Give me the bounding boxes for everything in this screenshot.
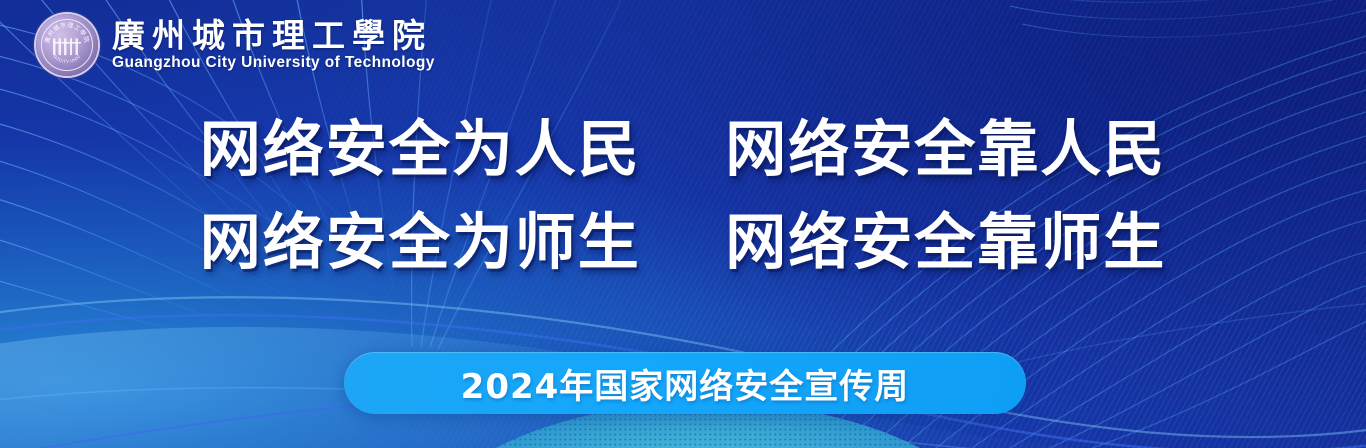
- university-name-en: Guangzhou City University of Technology: [112, 55, 435, 71]
- university-name-cn: 廣州城市理工學院: [112, 19, 435, 54]
- university-crest-icon: 廣州城市理工學院 GZCITY UNIV: [36, 14, 98, 76]
- university-name-block: 廣州城市理工學院 Guangzhou City University of Te…: [112, 19, 435, 70]
- banner-content: 廣州城市理工學院 GZCITY UNIV 廣州城市理工學院 Guangzhou …: [0, 0, 1366, 448]
- svg-text:GZCITY UNIV: GZCITY UNIV: [52, 54, 81, 64]
- headline-line-1-part-1: 网络安全为人民: [200, 114, 641, 185]
- campaign-pill-badge: 2024年国家网络安全宣传周: [344, 352, 1026, 414]
- headline-line-2-part-1: 网络安全为师生: [200, 207, 641, 278]
- headline-line-2-part-2: 网络安全靠师生: [725, 207, 1166, 278]
- headline-line-1: 网络安全为人民 网络安全靠人民: [0, 104, 1366, 197]
- crest-inner-text-ring: 廣州城市理工學院 GZCITY UNIV: [36, 14, 98, 76]
- university-logo-block: 廣州城市理工學院 GZCITY UNIV 廣州城市理工學院 Guangzhou …: [36, 14, 435, 76]
- svg-text:廣州城市理工學院: 廣州城市理工學院: [43, 21, 91, 44]
- cybersecurity-awareness-banner: 廣州城市理工學院 GZCITY UNIV 廣州城市理工學院 Guangzhou …: [0, 0, 1366, 448]
- headline-slogan: 网络安全为人民 网络安全靠人民 网络安全为师生 网络安全靠师生: [0, 104, 1366, 289]
- campaign-pill-label: 2024年国家网络安全宣传周: [461, 359, 910, 408]
- headline-line-2: 网络安全为师生 网络安全靠师生: [0, 197, 1366, 290]
- headline-line-1-part-2: 网络安全靠人民: [725, 114, 1166, 185]
